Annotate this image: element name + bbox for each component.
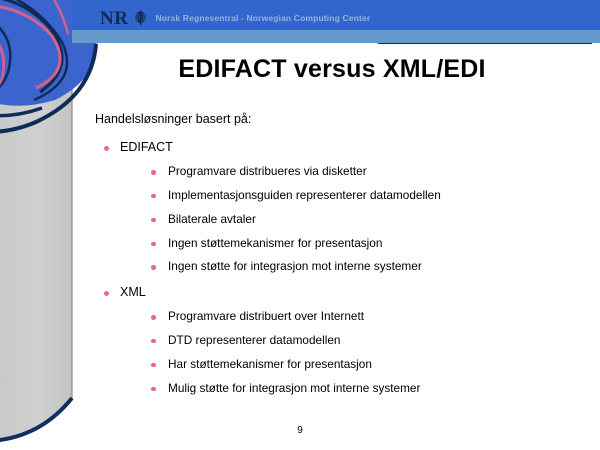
- organization-logo: NR Norsk Regnesentral - Norwegian Comput…: [100, 7, 370, 29]
- intro-text: Handelsløsninger basert på:: [95, 112, 575, 126]
- page-number: 9: [0, 425, 600, 436]
- bullet-icon: [151, 315, 156, 320]
- slide-canvas: NR Norsk Regnesentral - Norwegian Comput…: [0, 0, 600, 450]
- list-item-label: Ingen støtte for integrasjon mot interne…: [168, 259, 422, 273]
- list-item-label: Programvare distribuert over Internett: [168, 309, 364, 323]
- bullet-icon: [151, 387, 156, 392]
- bullet-icon: [151, 363, 156, 368]
- list-item-label: DTD representerer datamodellen: [168, 333, 340, 347]
- bullet-icon: [151, 242, 156, 247]
- bullet-icon: [104, 146, 109, 151]
- list-item: Mulig støtte for integrasjon mot interne…: [142, 377, 575, 401]
- list-item-label: Implementasjonsguiden representerer data…: [168, 188, 441, 202]
- cylinder-graphic: [0, 45, 72, 441]
- list-item: Programvare distribueres via disketter: [142, 160, 575, 184]
- list-item-label: Har støttemekanismer for presentasjon: [168, 357, 372, 371]
- list-item: Programvare distribuert over Internett: [142, 305, 575, 329]
- slide-body: Handelsløsninger basert på: EDIFACT Prog…: [95, 112, 575, 402]
- organization-name: Norsk Regnesentral - Norwegian Computing…: [153, 14, 370, 23]
- section-label: EDIFACT: [120, 140, 173, 154]
- list-item-label: Bilaterale avtaler: [168, 212, 256, 226]
- bullet-icon: [151, 218, 156, 223]
- list-item-label: Programvare distribueres via disketter: [168, 164, 367, 178]
- list-item: Har støttemekanismer for presentasjon: [142, 353, 575, 377]
- bullet-icon: [151, 339, 156, 344]
- bullet-icon: [151, 170, 156, 175]
- list-item: Bilaterale avtaler: [142, 208, 575, 232]
- list-item: Ingen støtte for integrasjon mot interne…: [142, 255, 575, 279]
- bullet-icon: [151, 265, 156, 270]
- sub-list-edifact: Programvare distribueres via disketter I…: [120, 160, 575, 279]
- list-item: Implementasjonsguiden representerer data…: [142, 184, 575, 208]
- outline-section-edifact: EDIFACT Programvare distribueres via dis…: [95, 136, 575, 279]
- list-item-label: Mulig støtte for integrasjon mot interne…: [168, 381, 420, 395]
- header-band-secondary: [72, 30, 600, 43]
- logo-monogram: NR: [100, 9, 128, 28]
- outline-list: EDIFACT Programvare distribueres via dis…: [95, 136, 575, 400]
- sub-list-xml: Programvare distribuert over Internett D…: [120, 305, 575, 400]
- section-label: XML: [120, 285, 146, 299]
- list-item: DTD representerer datamodellen: [142, 329, 575, 353]
- slide-title: EDIFACT versus XML/EDI: [72, 55, 592, 84]
- bullet-icon: [104, 291, 109, 296]
- list-item-label: Ingen støttemekanismer for presentasjon: [168, 236, 382, 250]
- list-item: Ingen støttemekanismer for presentasjon: [142, 232, 575, 256]
- outline-section-xml: XML Programvare distribuert over Interne…: [95, 281, 575, 400]
- globe-emblem-icon: [133, 10, 148, 26]
- bullet-icon: [151, 194, 156, 199]
